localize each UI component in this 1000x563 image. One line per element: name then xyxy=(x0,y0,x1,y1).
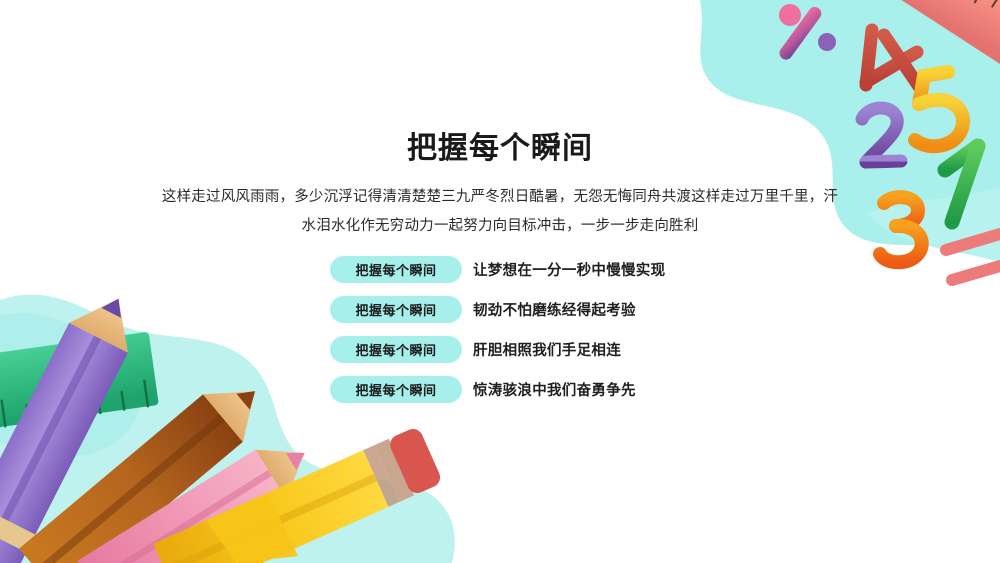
list-item-label: 肝胆相照我们手足相连 xyxy=(473,339,621,360)
list-item[interactable]: 把握每个瞬间 惊涛骇浪中我们奋勇争先 xyxy=(330,376,750,403)
list-item-label: 惊涛骇浪中我们奋勇争先 xyxy=(473,379,636,400)
status-badge: 把握每个瞬间 xyxy=(330,336,462,363)
list-item[interactable]: 把握每个瞬间 肝胆相照我们手足相连 xyxy=(330,336,750,363)
list-item-label: 让梦想在一分一秒中慢慢实现 xyxy=(473,259,665,280)
status-badge: 把握每个瞬间 xyxy=(330,256,462,283)
slide-canvas: 把握每个瞬间 这样走过风风雨雨，多少沉浮记得清清楚楚三九严冬烈日酷暑，无怨无悔同… xyxy=(0,0,1000,563)
status-badge: 把握每个瞬间 xyxy=(330,376,462,403)
lead-paragraph: 这样走过风风雨雨，多少沉浮记得清清楚楚三九严冬烈日酷暑，无怨无悔同舟共渡这样走过… xyxy=(160,183,840,241)
bullet-list: 把握每个瞬间 让梦想在一分一秒中慢慢实现 把握每个瞬间 韧劲不怕磨练经得起考验 … xyxy=(330,256,750,416)
slide-content: 把握每个瞬间 这样走过风风雨雨，多少沉浮记得清清楚楚三九严冬烈日酷暑，无怨无悔同… xyxy=(0,0,1000,563)
list-item[interactable]: 把握每个瞬间 韧劲不怕磨练经得起考验 xyxy=(330,296,750,323)
page-title: 把握每个瞬间 xyxy=(0,131,1000,167)
status-badge: 把握每个瞬间 xyxy=(330,296,462,323)
list-item[interactable]: 把握每个瞬间 让梦想在一分一秒中慢慢实现 xyxy=(330,256,750,283)
list-item-label: 韧劲不怕磨练经得起考验 xyxy=(473,299,636,320)
